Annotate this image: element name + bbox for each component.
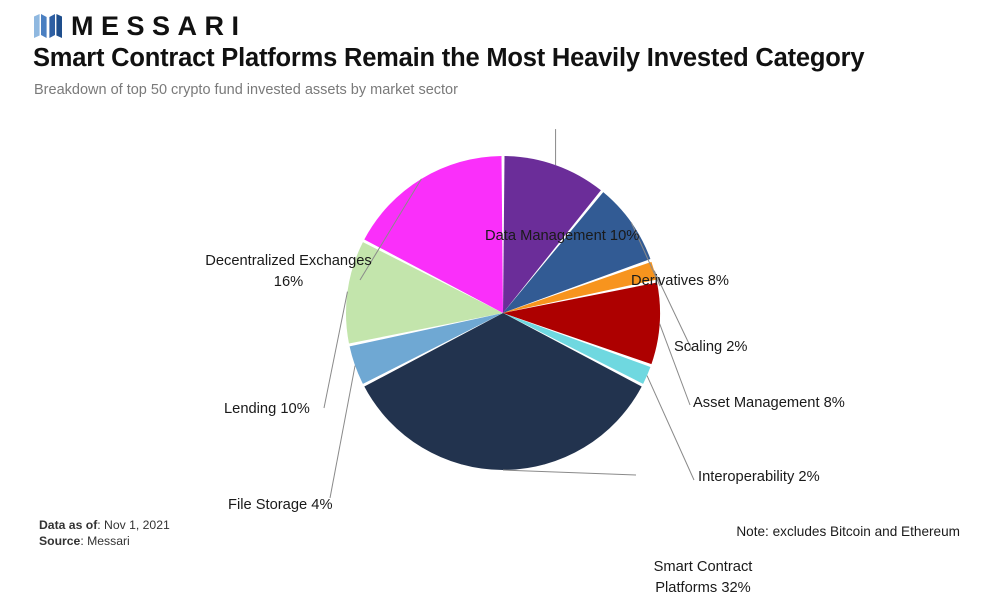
infographic-page: MESSARI Smart Contract Platforms Remain … — [0, 0, 987, 553]
data-as-of-label: Data as of — [39, 518, 97, 532]
leader-line — [330, 366, 355, 498]
chart-note: Note: excludes Bitcoin and Ethereum — [736, 524, 960, 539]
leader-line — [647, 376, 694, 480]
footnote: Data as of: Nov 1, 2021 Source: Messari — [39, 518, 170, 549]
source-label: Source — [39, 534, 80, 548]
source-value: : Messari — [80, 534, 129, 548]
slice-label-scaling: Scaling 2% — [674, 337, 747, 357]
page-subtitle: Breakdown of top 50 crypto fund invested… — [34, 82, 458, 98]
brand-name: MESSARI — [71, 14, 247, 38]
slice-label-asset-management: Asset Management 8% — [693, 393, 845, 413]
messari-logo-icon — [34, 14, 62, 38]
slice-label-file-storage: File Storage 4% — [228, 495, 333, 515]
leader-line — [324, 292, 347, 408]
page-title: Smart Contract Platforms Remain the Most… — [33, 44, 963, 73]
data-as-of-line: Data as of: Nov 1, 2021 — [39, 518, 170, 534]
slice-label-derivatives: Derivatives 8% — [631, 271, 729, 291]
brand-logo: MESSARI — [34, 10, 247, 42]
slice-label-lending: Lending 10% — [224, 399, 310, 419]
data-as-of-value: : Nov 1, 2021 — [97, 518, 170, 532]
pie-chart: Data Management 10% Derivatives 8% Scali… — [0, 105, 987, 505]
leader-line — [503, 470, 636, 475]
slice-label-decentralized-exchanges: Decentralized Exchanges 16% — [200, 251, 377, 293]
slice-label-smart-contract-platforms: Smart Contract Platforms 32% — [638, 557, 768, 599]
slice-label-interoperability: Interoperability 2% — [698, 467, 820, 487]
source-line: Source: Messari — [39, 534, 170, 550]
slice-label-data-management: Data Management 10% — [485, 226, 639, 246]
pie-chart-svg — [0, 105, 987, 505]
